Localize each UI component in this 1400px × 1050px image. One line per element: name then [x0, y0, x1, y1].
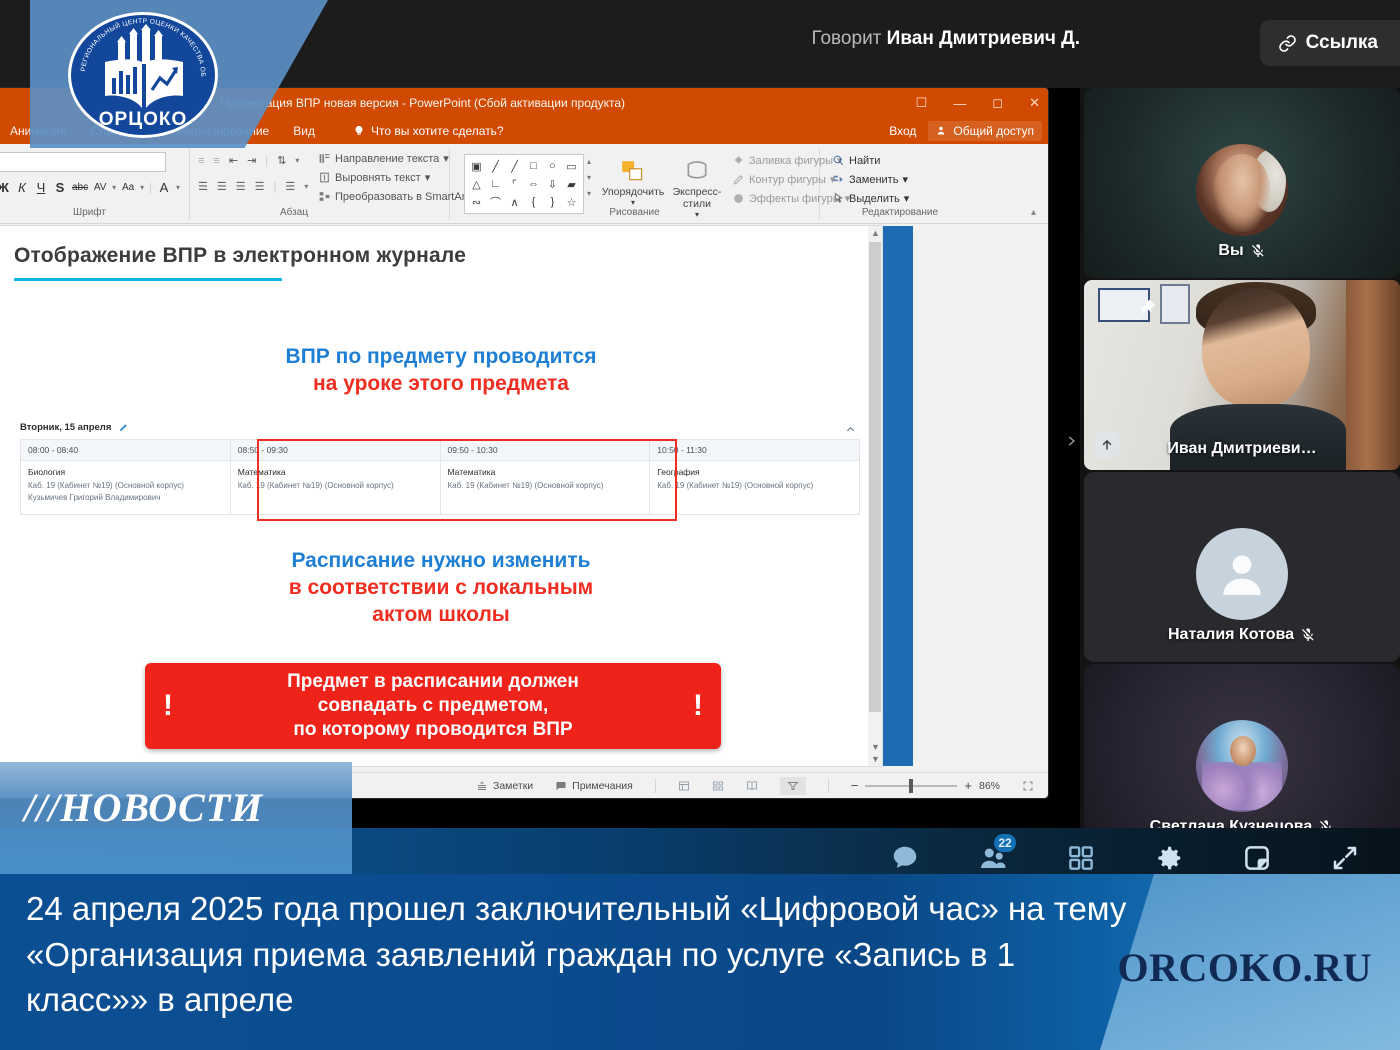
- find-label: Найти: [849, 155, 880, 167]
- screenshot-root: Говорит Иван Дмитриевич Д. Ссылка Вы: [0, 0, 1400, 1050]
- logo-graphic: РЕГИОНАЛЬНЫЙ ЦЕНТР ОЦЕНКИ КАЧЕСТВА ОБРАЗ…: [68, 12, 218, 138]
- normal-view-icon: [678, 780, 690, 792]
- schedule-time: 09:50 - 10:30: [441, 440, 650, 461]
- schedule-room: Каб. 19 (Кабинет №19) (Основной корпус): [238, 480, 433, 492]
- red-banner-text: Предмет в расписании должен совпадать с …: [287, 670, 579, 741]
- schedule-time: 10:50 - 11:30: [650, 440, 859, 461]
- red-banner-line: совпадать с предметом,: [287, 694, 579, 718]
- red-banner-line: Предмет в расписании должен: [287, 670, 579, 694]
- shape-triangle-icon[interactable]: △: [467, 175, 486, 193]
- scroll-down-icon[interactable]: ▼: [871, 742, 880, 752]
- shape-connector-icon[interactable]: ⌜: [505, 175, 524, 193]
- zoom-out-button[interactable]: −: [851, 778, 859, 793]
- participant-name-label: Иван Дмитриеви…: [1167, 440, 1316, 458]
- ribbon-group-label: Шрифт: [0, 207, 189, 218]
- fit-slide-button[interactable]: [1022, 780, 1034, 792]
- schedule-column[interactable]: 09:50 - 10:30 Математика Каб. 19 (Кабине…: [441, 440, 651, 514]
- avatar: [1196, 528, 1288, 620]
- schedule-room: Каб. 19 (Кабинет №19) (Основной корпус): [448, 480, 643, 492]
- participant-tile[interactable]: Наталия Котова: [1084, 472, 1400, 662]
- person-icon: [1214, 546, 1270, 602]
- shape-line-icon[interactable]: ╱: [486, 157, 505, 175]
- reading-view-icon: [746, 780, 758, 792]
- schedule-subject: Математика: [238, 467, 433, 477]
- fullscreen-icon[interactable]: [1330, 843, 1360, 873]
- exclamation-mark: !: [163, 689, 173, 723]
- sorter-view-button[interactable]: [712, 780, 724, 792]
- slide-text-block-1: ВПР по предмету проводится на уроке этог…: [0, 344, 882, 398]
- tell-me-label: Что вы хотите сделать?: [371, 124, 504, 138]
- schedule-subject: География: [657, 467, 852, 477]
- background-picture-frame: [1160, 284, 1190, 324]
- quick-styles-icon: [684, 156, 710, 186]
- arrange-button[interactable]: Упорядочить ▾: [602, 156, 664, 207]
- chevron-down-icon[interactable]: ▾: [112, 183, 116, 192]
- red-banner-line: по которому проводится ВПР: [287, 718, 579, 742]
- shapes-gallery[interactable]: ▣ ╱ ╱ □ ○ ▭ △ ∟ ⌜ ⇔ ⇩ ▰ ∾ ⌒ ∧: [464, 154, 584, 214]
- shape-circle-icon[interactable]: ○: [543, 157, 562, 175]
- shape-elbow-icon[interactable]: ∟: [486, 175, 505, 193]
- zoom-track[interactable]: [865, 785, 957, 787]
- select-label: Выделить: [849, 193, 900, 205]
- gear-icon[interactable]: [1154, 843, 1184, 873]
- chevron-down-icon[interactable]: ▾: [176, 183, 180, 192]
- slide-scrollbar[interactable]: ▲ ▼ ▼: [868, 226, 882, 766]
- news-headline: 24 апреля 2025 года прошел заключительны…: [26, 886, 1136, 1023]
- schedule-room: Каб. 19 (Кабинет №19) (Основной корпус): [28, 480, 223, 492]
- slideshow-icon: [787, 780, 799, 792]
- slide-canvas[interactable]: Отображение ВПР в электронном журнале ВП…: [0, 226, 882, 766]
- active-speaker-label: Говорит Иван Дмитриевич Д.: [811, 28, 1080, 50]
- tell-me-search[interactable]: Что вы хотите сделать?: [353, 124, 504, 138]
- schedule-column[interactable]: 10:50 - 11:30 География Каб. 19 (Кабинет…: [650, 440, 859, 514]
- bullets-button[interactable]: ≡: [198, 155, 204, 167]
- fit-to-window-icon: [1022, 780, 1034, 792]
- align-text-label: Выровнять текст: [335, 172, 421, 184]
- participant-name-label: Наталия Котова: [1168, 626, 1294, 644]
- lightbulb-icon: [353, 125, 365, 137]
- ribbon-group-editing[interactable]: Найти Заменить ▾ Выделить ▾ Редактирован…: [820, 148, 980, 220]
- apps-grid-icon[interactable]: [1066, 843, 1096, 873]
- align-text-icon: [318, 171, 331, 184]
- text-direction-label: Направление текста: [335, 153, 439, 165]
- effects-icon: [732, 192, 745, 205]
- exclamation-mark: !: [693, 689, 703, 723]
- mic-off-icon: [1300, 627, 1316, 643]
- schedule-column[interactable]: 08:00 - 08:40 Биология Каб. 19 (Кабинет …: [21, 440, 231, 514]
- schedule-widget[interactable]: Вторник, 15 апреля 08:00 - 08:40 Биологи…: [20, 422, 860, 515]
- slide-text-line: в соответствии с локальным: [0, 575, 882, 602]
- shape-arrow-down-icon[interactable]: ⇩: [543, 175, 562, 193]
- zoom-slider[interactable]: − + 86%: [851, 778, 1000, 793]
- align-center-button[interactable]: ☰: [217, 180, 227, 193]
- shape-outline-label: Контур фигуры: [749, 174, 826, 186]
- chevron-up-icon[interactable]: [845, 424, 856, 435]
- replace-icon: [832, 173, 845, 186]
- smartart-icon: [318, 190, 331, 203]
- logo-text: ОРЦОКО: [99, 109, 188, 130]
- avatar: [1196, 144, 1288, 236]
- select-button[interactable]: Выделить ▾: [832, 192, 909, 205]
- maximize-icon[interactable]: ◻: [992, 95, 1003, 111]
- participant-name: Наталия Котова: [1084, 626, 1400, 644]
- link-icon: [1278, 34, 1297, 53]
- schedule-time: 08:00 - 08:40: [21, 440, 230, 461]
- schedule-day-text: Вторник, 15 апреля: [20, 422, 111, 433]
- schedule-subject: Биология: [28, 467, 223, 477]
- chat-icon[interactable]: [890, 843, 920, 873]
- cursor-select-icon: [832, 192, 845, 205]
- notes-button[interactable]: Заметки: [476, 780, 533, 792]
- account-area[interactable]: Вход Общий доступ: [889, 118, 1042, 144]
- shape-rect-icon[interactable]: ▣: [467, 157, 486, 175]
- numbering-button[interactable]: ≡: [213, 155, 219, 167]
- zoom-in-button[interactable]: +: [964, 778, 972, 793]
- ribbon-group-label: Абзац: [280, 207, 308, 218]
- schedule-teacher: Кузьмичев Григорий Владимирович: [28, 492, 223, 504]
- participants-filmstrip[interactable]: Вы Иван Дмитриеви…: [1084, 88, 1400, 828]
- window-controls[interactable]: ☐ — ◻ ✕: [916, 88, 1040, 118]
- fill-bucket-icon: [732, 154, 745, 167]
- copy-link-label: Ссылка: [1306, 32, 1378, 54]
- slide-title: Отображение ВПР в электронном журнале: [14, 244, 466, 268]
- align-left-button[interactable]: ☰: [198, 180, 208, 193]
- search-icon: [832, 154, 845, 167]
- schedule-room: Каб. 19 (Кабинет №19) (Основной корпус): [657, 480, 852, 492]
- next-slide-icon[interactable]: ▼: [871, 754, 880, 764]
- increase-indent-button[interactable]: ⇥: [247, 154, 256, 167]
- person-torso: [1170, 404, 1346, 470]
- mic-off-icon: [1250, 243, 1266, 259]
- shapes-scroll-up-icon[interactable]: ▴: [587, 157, 591, 166]
- ribbon-group-label: Редактирование: [820, 207, 980, 218]
- ribbon-group-drawing[interactable]: ▣ ╱ ╱ □ ○ ▭ △ ∟ ⌜ ⇔ ⇩ ▰ ∾ ⌒ ∧: [450, 148, 820, 220]
- news-tag-label: ///НОВОСТИ: [24, 784, 263, 831]
- shape-roundrect-icon[interactable]: ▭: [562, 157, 581, 175]
- schedule-time: 08:50 - 09:30: [231, 440, 440, 461]
- outline-pen-icon: [732, 173, 745, 186]
- divider: [655, 779, 656, 793]
- align-right-button[interactable]: ☰: [236, 180, 246, 193]
- find-button[interactable]: Найти: [832, 154, 909, 167]
- text-direction-icon: [318, 152, 331, 165]
- chevron-right-icon[interactable]: [1064, 430, 1078, 452]
- character-spacing-button[interactable]: AV: [93, 182, 107, 193]
- powerpoint-window[interactable]: Презентация ВПР новая версия - PowerPoin…: [0, 88, 1048, 798]
- italic-button[interactable]: К: [15, 180, 29, 195]
- reading-view-button[interactable]: [746, 780, 758, 792]
- speaker-prefix: Говорит: [811, 28, 881, 49]
- font-color-button[interactable]: A: [157, 180, 171, 195]
- chevron-down-icon[interactable]: ▾: [140, 183, 144, 192]
- slide-text-line: Расписание нужно изменить: [0, 548, 882, 575]
- sign-in-button[interactable]: Вход: [889, 124, 916, 138]
- chevron-down-icon[interactable]: ▾: [295, 156, 299, 165]
- ribbon-group-font[interactable]: Ж К Ч S abc AV ▾ Aa ▾ | A ▾ Шрифт: [0, 148, 190, 220]
- edit-pencil-icon[interactable]: [118, 422, 129, 433]
- divider: [828, 779, 829, 793]
- person-face: [1202, 288, 1310, 408]
- notes-icon: [476, 780, 488, 792]
- line-spacing-button[interactable]: ⇅: [277, 154, 286, 167]
- slide-red-banner: ! Предмет в расписании должен совпадать …: [145, 663, 721, 749]
- zoom-level: 86%: [979, 780, 1000, 792]
- shape-arrow-right-icon[interactable]: ⇔: [524, 175, 543, 193]
- news-tag-banner: ///НОВОСТИ: [0, 762, 352, 874]
- powerpoint-ribbon[interactable]: Ж К Ч S abc AV ▾ Aa ▾ | A ▾ Шрифт: [0, 144, 1048, 224]
- slide-editing-area[interactable]: Отображение ВПР в электронном журнале ВП…: [0, 224, 1048, 764]
- copy-link-button[interactable]: Ссылка: [1260, 20, 1400, 66]
- normal-view-button[interactable]: [678, 780, 690, 792]
- participant-name: Вы: [1084, 242, 1400, 260]
- shape-arrow-icon[interactable]: ╱: [505, 157, 524, 175]
- underline-button[interactable]: Ч: [34, 180, 48, 195]
- change-case-button[interactable]: Aa: [121, 182, 135, 193]
- participant-tile[interactable]: Светлана Кузнецова: [1084, 664, 1400, 854]
- convert-smartart-label: Преобразовать в SmartArt: [335, 191, 468, 203]
- site-url-label: ORCOKO.RU: [1118, 944, 1373, 991]
- shape-square-icon[interactable]: □: [524, 157, 543, 175]
- comments-label: Примечания: [572, 780, 633, 792]
- chevron-down-icon[interactable]: ▾: [304, 182, 308, 191]
- collapse-ribbon-icon[interactable]: ▴: [1031, 207, 1036, 218]
- zoom-knob[interactable]: [909, 779, 913, 793]
- participant-name: Иван Дмитриеви…: [1084, 440, 1400, 458]
- orcoko-logo: РЕГИОНАЛЬНЫЙ ЦЕНТР ОЦЕНКИ КАЧЕСТВА ОБРАЗ…: [68, 12, 218, 138]
- share-label: Общий доступ: [953, 124, 1034, 138]
- document-title: Презентация ВПР новая версия - PowerPoin…: [220, 96, 625, 110]
- shapes-more-icon[interactable]: ▾: [587, 189, 591, 198]
- comment-icon: [555, 780, 567, 792]
- pin-icon[interactable]: [1139, 298, 1157, 316]
- ribbon-group-label: Рисование: [450, 207, 819, 218]
- participant-tile[interactable]: Иван Дмитриеви…: [1084, 280, 1400, 470]
- decrease-indent-button[interactable]: ⇤: [229, 154, 238, 167]
- menu-item-view[interactable]: Вид: [293, 124, 315, 138]
- slideshow-button[interactable]: [780, 777, 806, 795]
- shapes-scroll-down-icon[interactable]: ▾: [587, 173, 591, 182]
- comments-button[interactable]: Примечания: [555, 780, 633, 792]
- scrollbar-thumb[interactable]: [869, 242, 881, 712]
- bold-button[interactable]: Ж: [0, 180, 10, 195]
- arrange-icon: [620, 156, 646, 186]
- slide-side-accent: [878, 226, 913, 766]
- slide-sorter-icon: [712, 780, 724, 792]
- participant-name-label: Вы: [1218, 242, 1243, 260]
- close-icon[interactable]: ✕: [1029, 95, 1040, 111]
- title-underline: [14, 278, 282, 281]
- schedule-column[interactable]: 08:50 - 09:30 Математика Каб. 19 (Кабине…: [231, 440, 441, 514]
- justify-button[interactable]: ☰: [255, 180, 265, 193]
- scroll-up-icon[interactable]: ▲: [871, 228, 880, 238]
- shape-pentagon-icon[interactable]: ▰: [562, 175, 581, 193]
- layout-icon[interactable]: [1242, 843, 1272, 873]
- speaker-name: Иван Дмитриевич Д.: [887, 28, 1080, 49]
- slide-text-block-2: Расписание нужно изменить в соответствии…: [0, 548, 882, 629]
- person-share-icon: [936, 125, 948, 137]
- strikethrough-button[interactable]: abc: [72, 182, 88, 193]
- schedule-table: 08:00 - 08:40 Биология Каб. 19 (Кабинет …: [20, 439, 860, 515]
- schedule-day-label: Вторник, 15 апреля: [20, 422, 860, 433]
- font-name-box[interactable]: [0, 152, 166, 172]
- notes-label: Заметки: [493, 780, 533, 792]
- participant-tile[interactable]: Вы: [1084, 88, 1400, 278]
- minimize-icon[interactable]: —: [953, 96, 966, 111]
- slide-text-line: ВПР по предмету проводится: [0, 344, 882, 371]
- share-button[interactable]: Общий доступ: [928, 121, 1042, 141]
- shadow-button[interactable]: S: [53, 180, 67, 195]
- arrange-label: Упорядочить: [602, 186, 664, 198]
- columns-button[interactable]: ☰: [285, 180, 295, 193]
- slide-text-line: актом школы: [0, 602, 882, 629]
- slide-text-line: на уроке этого предмета: [0, 371, 882, 398]
- schedule-subject: Математика: [448, 467, 643, 477]
- avatar: [1196, 720, 1288, 812]
- restore-icon[interactable]: ☐: [916, 95, 928, 111]
- ribbon-group-paragraph[interactable]: ≡ ≡ ⇤ ⇥ | ⇅ ▾ ☰ ☰ ☰ ☰ | ☰ ▾: [190, 148, 450, 220]
- participants-count-badge: 22: [994, 834, 1016, 852]
- replace-button[interactable]: Заменить ▾: [832, 173, 909, 186]
- participants-icon[interactable]: 22: [978, 843, 1008, 873]
- replace-label: Заменить: [849, 174, 898, 186]
